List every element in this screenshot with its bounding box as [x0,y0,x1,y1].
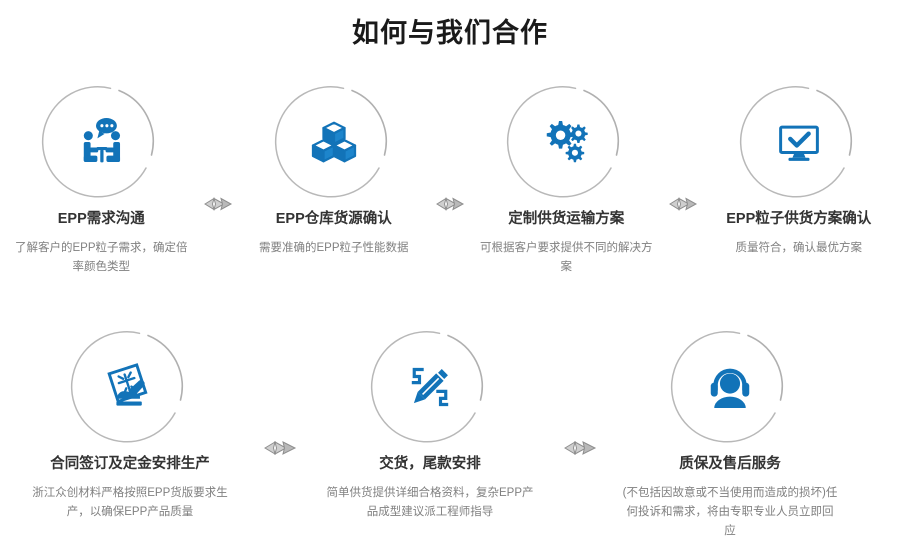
step-3-title: 定制供货运输方案 [508,210,624,230]
arrow-separator-5 [560,327,600,457]
step-6-desc: 简单供货提供详细合格资料，复杂EPP产品成型建议派工程师指导 [322,484,538,522]
step-6: 交货，尾款安排 简单供货提供详细合格资料，复杂EPP产品成型建议派工程师指导 [300,327,560,522]
step-4-icon-ring [739,82,859,202]
gears-icon [535,111,597,173]
step-7-icon-ring [670,327,790,447]
step-7-desc: (不包括因故意或不当使用而造成的损坏)任何投诉和需求，将由专职专业人员立即回应 [622,484,838,538]
step-5-icon-ring [70,327,190,447]
step-1-icon-ring [41,82,161,202]
step-2-desc: 需要准确的EPP粒子性能数据 [243,239,425,258]
arrow-separator-3 [668,82,698,212]
step-6-title: 交货，尾款安排 [379,455,481,475]
arrow-separator-4 [260,327,300,457]
headset-support-agent-icon [699,356,761,418]
step-7: 质保及售后服务 (不包括因故意或不当使用而造成的损坏)任何投诉和需求，将由专职专… [600,327,860,538]
step-5-title: 合同签订及定金安排生产 [50,455,210,475]
stacked-boxes-icon [303,111,365,173]
step-1-title: EPP需求沟通 [58,210,145,230]
step-4-desc: 质量符合，确认最优方案 [708,239,890,258]
step-4-title: EPP粒子供货方案确认 [726,210,871,230]
arrow-separator-2 [435,82,465,212]
step-3-icon-ring [506,82,626,202]
step-2-title: EPP仓库货源确认 [276,210,392,230]
steps-row-2: 合同签订及定金安排生产 浙江众创材料严格按照EPP货版要求生产，以确保EPP产品… [0,327,900,538]
step-2: EPP仓库货源确认 需要准确的EPP粒子性能数据 [233,82,436,258]
steps-row-1: EPP需求沟通 了解客户的EPP粒子需求，确定倍率颜色类型 [0,82,900,277]
double-chevron-arrow-right-icon [435,196,465,212]
step-7-title: 质保及售后服务 [679,455,781,475]
step-4: EPP粒子供货方案确认 质量符合，确认最优方案 [698,82,900,258]
contract-signing-hand-icon [99,356,161,418]
monitor-check-icon [768,111,830,173]
step-2-icon-ring [274,82,394,202]
step-3-desc: 可根据客户要求提供不同的解决方案 [475,239,657,277]
workflow-page: 如何与我们合作 [0,0,900,538]
step-3: 定制供货运输方案 可根据客户要求提供不同的解决方案 [465,82,668,277]
arrow-separator-1 [203,82,233,212]
double-chevron-arrow-right-icon [668,196,698,212]
step-5: 合同签订及定金安排生产 浙江众创材料严格按照EPP货版要求生产，以确保EPP产品… [0,327,260,522]
pencil-tools-icon [399,356,461,418]
step-1-desc: 了解客户的EPP粒子需求，确定倍率颜色类型 [10,239,192,277]
double-chevron-arrow-right-icon [263,439,297,457]
step-5-desc: 浙江众创材料严格按照EPP货版要求生产，以确保EPP产品质量 [22,484,238,522]
step-6-icon-ring [370,327,490,447]
meeting-discussion-icon [70,111,132,173]
page-title: 如何与我们合作 [0,0,900,49]
double-chevron-arrow-right-icon [203,196,233,212]
step-1: EPP需求沟通 了解客户的EPP粒子需求，确定倍率颜色类型 [0,82,203,277]
double-chevron-arrow-right-icon [563,439,597,457]
